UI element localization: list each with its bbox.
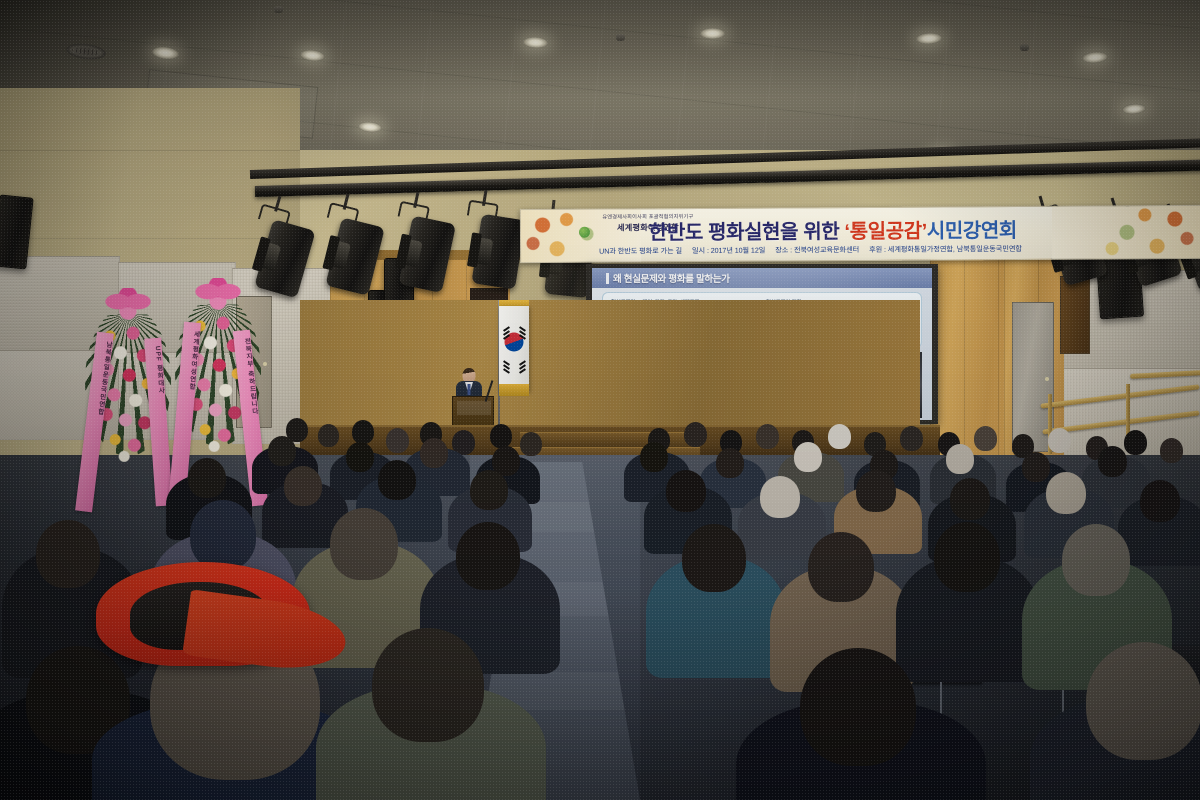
audience-head xyxy=(1124,430,1147,455)
audience-head xyxy=(828,424,851,449)
audience-head xyxy=(756,424,779,449)
audience-head xyxy=(946,444,974,474)
banner-sub-item: 장소 : 전북여성교육문화센터 xyxy=(775,245,859,255)
audience-head xyxy=(456,522,520,590)
audience-head xyxy=(386,428,409,453)
audience-head xyxy=(794,442,822,472)
audience-head xyxy=(1086,642,1200,760)
audience-head xyxy=(36,520,100,588)
audience-head xyxy=(284,466,322,506)
audience-head xyxy=(1062,524,1130,596)
audience-head xyxy=(1098,446,1127,477)
audience-head xyxy=(318,424,339,447)
ribbon-bow-icon xyxy=(105,288,151,322)
audience-head xyxy=(1140,480,1180,522)
audience-head xyxy=(974,426,997,451)
audience-head xyxy=(352,420,374,444)
slide-title: 왜 현실문제와 평화를 말하는가 xyxy=(613,271,730,285)
sprinkler-head-icon xyxy=(1020,44,1029,51)
audience-head xyxy=(760,476,800,518)
audience-head xyxy=(640,442,668,472)
ceiling-downlight xyxy=(700,28,725,39)
audience-head xyxy=(520,432,542,456)
side-door[interactable] xyxy=(1060,276,1090,354)
audience-head xyxy=(378,460,416,500)
audience-head xyxy=(490,424,512,448)
audience-head xyxy=(346,442,374,472)
audience-head xyxy=(682,524,746,592)
audience-head xyxy=(1046,472,1086,514)
audience-head xyxy=(856,470,896,512)
audience-head xyxy=(190,500,256,570)
audience-head xyxy=(808,532,874,602)
audience-head xyxy=(330,508,398,580)
ribbon-bow-icon xyxy=(195,278,241,312)
audience-head xyxy=(1160,438,1183,463)
stage-back-wall xyxy=(300,300,920,430)
audience-head xyxy=(950,478,990,520)
audience-head xyxy=(188,458,226,498)
audience-head xyxy=(934,522,1000,592)
slide-header-accent xyxy=(606,273,609,284)
door-knob-icon xyxy=(1045,377,1049,381)
audience-head xyxy=(268,436,296,466)
sprinkler-head-icon xyxy=(616,34,625,41)
banner-title-highlight: 통일공감 xyxy=(850,221,922,243)
event-banner: 유엔경제사회이사회 포괄적협의지위기구 세계평화여성연합 한반도 평화실현을 위… xyxy=(520,205,1200,263)
sprinkler-head-icon xyxy=(274,6,283,13)
slide-header: 왜 현실문제와 평화를 말하는가 xyxy=(592,268,932,288)
audience-head xyxy=(900,426,923,451)
flag-bottom-trim xyxy=(499,384,529,396)
korean-national-flag xyxy=(499,306,529,392)
audience-head xyxy=(666,470,706,512)
auditorium-photo: 유엔경제사회이사회 포괄적협의지위기구 세계평화여성연합 한반도 평화실현을 위… xyxy=(0,0,1200,800)
audience-head xyxy=(800,648,916,766)
flower-stand-right: 세계평화여성연합 전북지부 축하드립니다 xyxy=(166,278,270,488)
banner-sub-item: 후원 : 세계평화통일가정연합, 남북통일운동국민연합 xyxy=(869,244,1022,254)
audience-head xyxy=(684,422,707,447)
banner-title-part1: 한반도 평화실현을 위한 xyxy=(649,221,839,244)
flower-stand-left: 남북통일운동국민연합 UPF 평화대사 xyxy=(78,288,178,488)
presenter-tie xyxy=(468,384,471,395)
audience-head xyxy=(372,628,484,742)
audience-head xyxy=(470,470,508,510)
banner-sub-item: UN과 한반도 평화로 가는 길 xyxy=(599,246,682,256)
audience-head xyxy=(420,438,448,468)
banner-title: 한반도 평화실현을 위한 ‘통일공감’시민강연회 xyxy=(649,213,1197,245)
audience-head xyxy=(716,448,744,478)
audience-head xyxy=(1022,452,1050,482)
banner-title-part2: 시민강연회 xyxy=(927,220,1017,243)
audience-head xyxy=(1048,428,1071,453)
banner-sub-item: 일시 : 2017년 10월 12일 xyxy=(692,246,765,255)
